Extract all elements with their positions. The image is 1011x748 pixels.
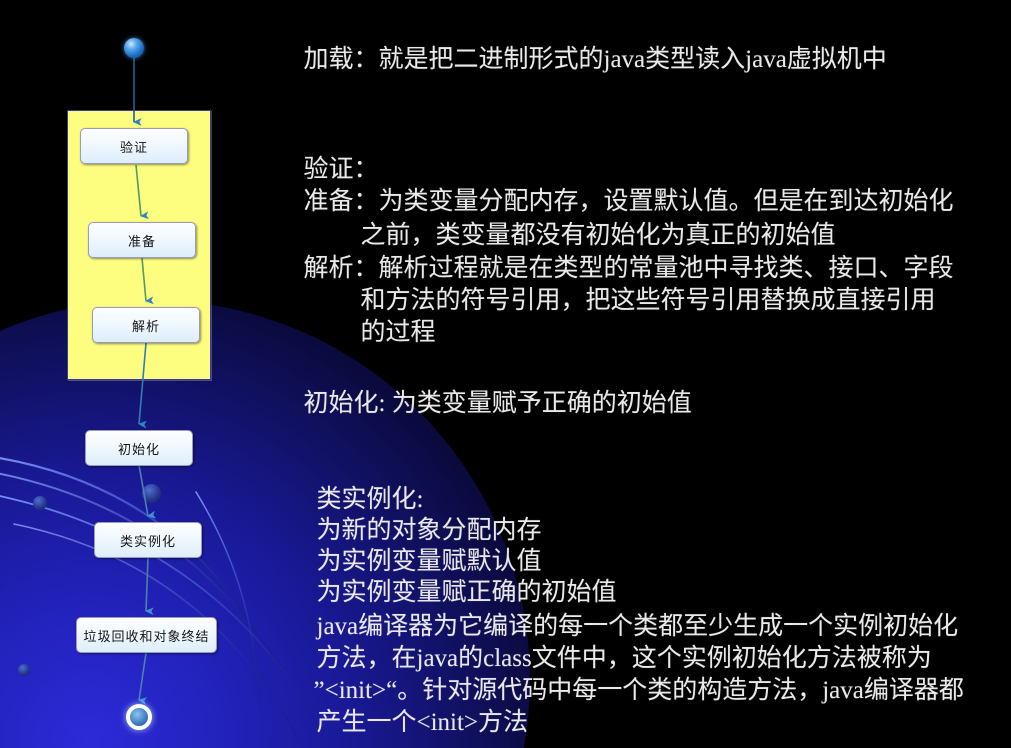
flow-node-instantiate[interactable]: 类实例化 bbox=[94, 522, 202, 558]
flow-node-garbage-collection[interactable]: 垃圾回收和对象终结 bbox=[76, 617, 217, 653]
note-loading-label: 加载： bbox=[304, 47, 379, 72]
flow-node-prepare[interactable]: 准备 bbox=[88, 222, 196, 258]
note-instantiation-line7: 产生一个<init>方法 bbox=[279, 685, 528, 748]
note-resolution-line3: 的过程 bbox=[323, 295, 436, 370]
flow-node-initialize-label: 初始化 bbox=[118, 439, 160, 458]
flow-node-garbage-collection-label: 垃圾回收和对象终结 bbox=[83, 626, 209, 645]
final-state-icon[interactable] bbox=[126, 704, 152, 730]
note-resolution-text2: 和方法的符号引用，把这些符号引用替换成直接引用 bbox=[361, 287, 936, 314]
flow-node-resolve-label: 解析 bbox=[132, 316, 160, 335]
flow-node-prepare-label: 准备 bbox=[128, 231, 156, 250]
note-initialization-text: 初始化: 为类变量赋予正确的初始值 bbox=[304, 390, 692, 417]
flow-node-resolve[interactable]: 解析 bbox=[92, 307, 200, 343]
note-resolution-text3: 的过程 bbox=[361, 319, 436, 346]
flowchart: 验证 准备 解析 初始化 类实例化 垃圾回收和对象终结 bbox=[0, 0, 262, 748]
flow-node-instantiate-label: 类实例化 bbox=[120, 531, 176, 550]
notes-column: 加载：就是把二进制形式的java类型读入java虚拟机中 验证： 准备：为类变量… bbox=[262, 0, 1007, 748]
flow-node-verify-label: 验证 bbox=[120, 137, 148, 156]
note-loading-body: 就是把二进制形式的java类型读入java虚拟机中 bbox=[379, 46, 887, 73]
note-instantiation-text7: 产生一个<init>方法 bbox=[317, 709, 529, 736]
slide-canvas: 验证 准备 解析 初始化 类实例化 垃圾回收和对象终结 加载：就是把二进制形式的… bbox=[0, 0, 1011, 748]
start-state-icon[interactable] bbox=[124, 38, 144, 58]
flow-node-initialize[interactable]: 初始化 bbox=[85, 430, 193, 466]
note-loading: 加载：就是把二进制形式的java类型读入java虚拟机中 bbox=[266, 22, 887, 97]
note-initialization: 初始化: 为类变量赋予正确的初始值 bbox=[266, 366, 692, 441]
flow-node-verify[interactable]: 验证 bbox=[80, 128, 188, 164]
